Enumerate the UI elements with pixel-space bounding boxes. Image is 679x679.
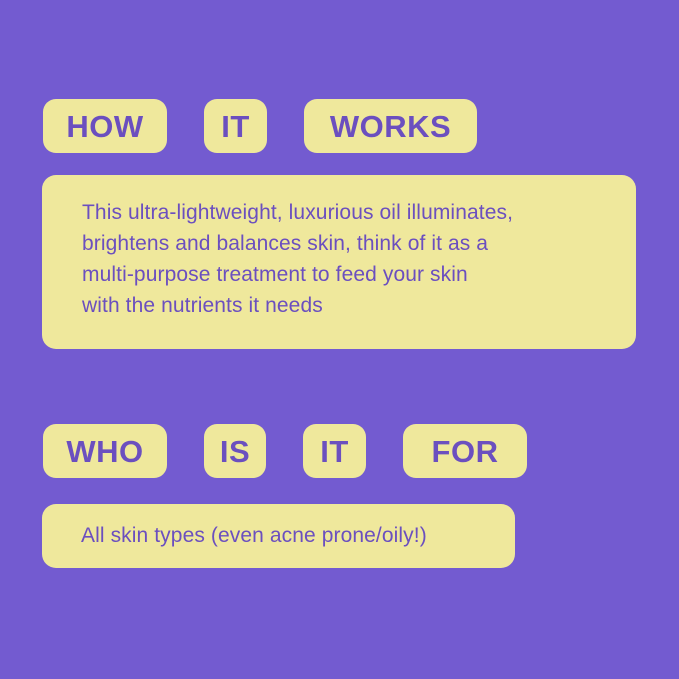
heading-pill-works-label: WORKS (330, 111, 451, 142)
heading-pill-who: WHO (43, 424, 167, 478)
heading-pill-it-label: IT (221, 111, 250, 142)
product-info-graphic: HOW IT WORKS This ultra-lightweight, lux… (0, 0, 679, 679)
card-who-is-it-for: All skin types (even acne prone/oily!) (42, 504, 515, 568)
heading-pill-who-label: WHO (66, 436, 143, 467)
heading-pill-it-second-label: IT (320, 436, 349, 467)
card-how-it-works-line-3: multi-purpose treatment to feed your ski… (82, 259, 606, 290)
heading-pill-it: IT (204, 99, 267, 153)
card-how-it-works: This ultra-lightweight, luxurious oil il… (42, 175, 636, 349)
heading-row-how-it-works: HOW IT WORKS (43, 99, 477, 153)
heading-pill-for-label: FOR (432, 436, 499, 467)
heading-pill-works: WORKS (304, 99, 477, 153)
heading-pill-how: HOW (43, 99, 167, 153)
card-how-it-works-line-1: This ultra-lightweight, luxurious oil il… (82, 197, 606, 228)
heading-row-who-is-it-for: WHO IS IT FOR (43, 424, 527, 478)
heading-pill-it-second: IT (303, 424, 366, 478)
heading-pill-for: FOR (403, 424, 527, 478)
card-how-it-works-line-2: brightens and balances skin, think of it… (82, 228, 606, 259)
heading-pill-is-label: IS (220, 436, 250, 467)
heading-pill-how-label: HOW (66, 111, 143, 142)
heading-pill-is: IS (204, 424, 266, 478)
card-how-it-works-line-4: with the nutrients it needs (82, 290, 606, 321)
card-who-is-it-for-line-1: All skin types (even acne prone/oily!) (81, 523, 427, 548)
